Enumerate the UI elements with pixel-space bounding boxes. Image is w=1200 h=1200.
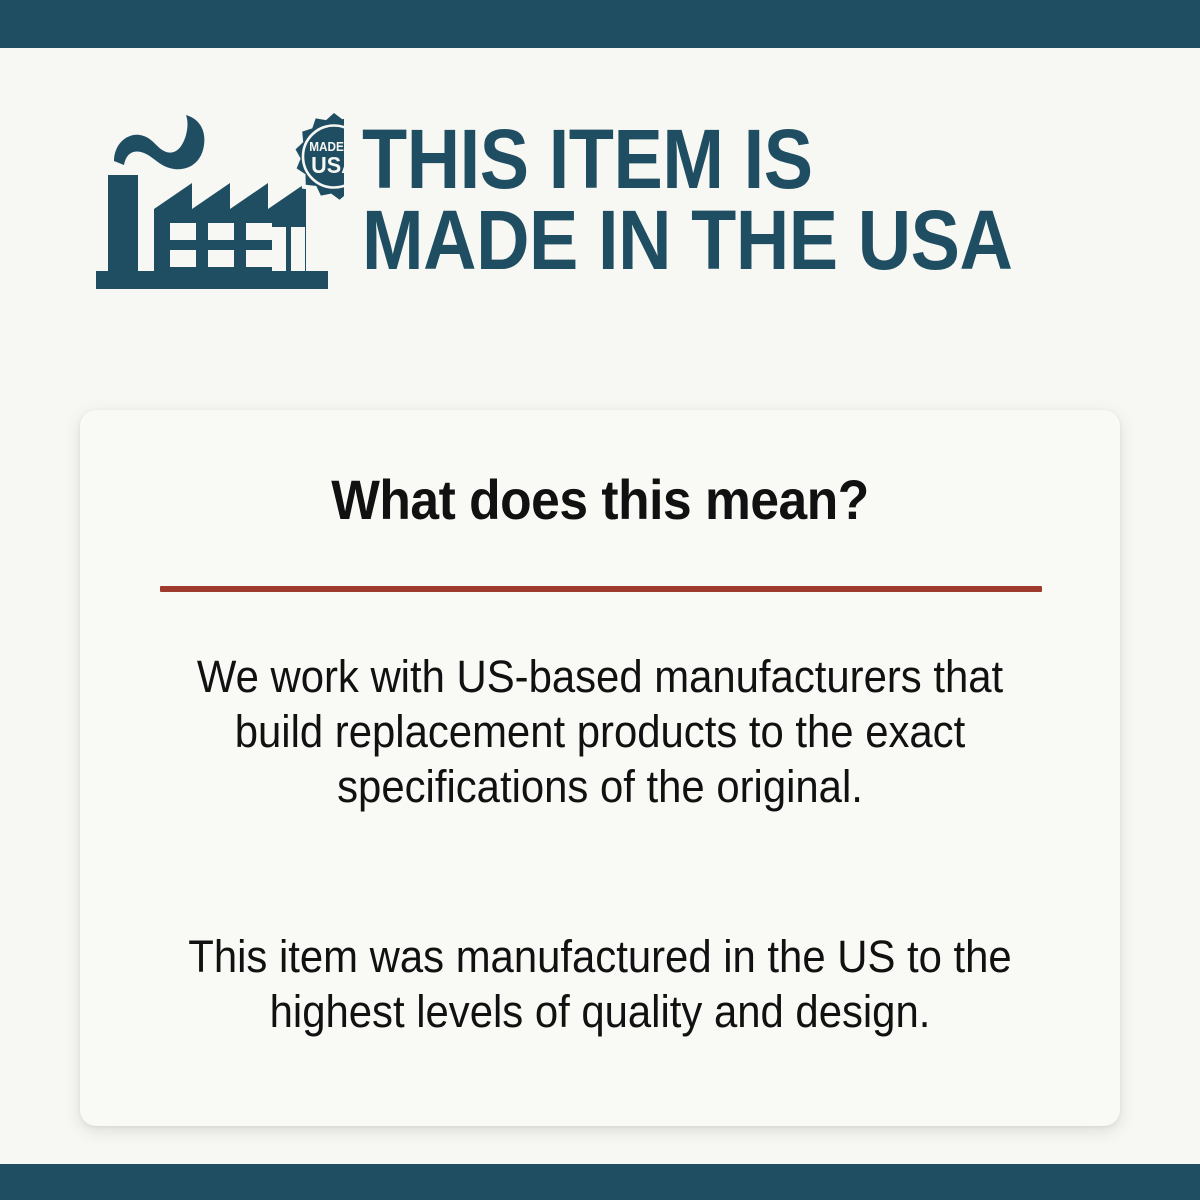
badge-line-bottom-text: USA [311, 152, 344, 178]
card-divider [160, 586, 1042, 592]
card-paragraph-1: We work with US-based manufacturers that… [154, 650, 1047, 815]
bottom-accent-band [0, 1164, 1200, 1200]
card-paragraph-2: This item was manufactured in the US to … [154, 930, 1047, 1040]
factory-made-in-usa-icon: MADE IN USA [96, 105, 344, 295]
page-header: MADE IN USA THIS ITEM IS MADE IN THE USA [96, 100, 1156, 300]
page-canvas: MADE IN USA THIS ITEM IS MADE IN THE USA… [0, 48, 1200, 1164]
card-heading: What does this mean? [122, 472, 1079, 528]
page-title-line-1: THIS ITEM IS [362, 119, 1061, 200]
top-accent-band [0, 0, 1200, 48]
explanation-card: What does this mean? We work with US-bas… [80, 410, 1120, 1126]
page-title: THIS ITEM IS MADE IN THE USA [362, 119, 1061, 282]
page-title-line-2: MADE IN THE USA [362, 200, 1061, 281]
